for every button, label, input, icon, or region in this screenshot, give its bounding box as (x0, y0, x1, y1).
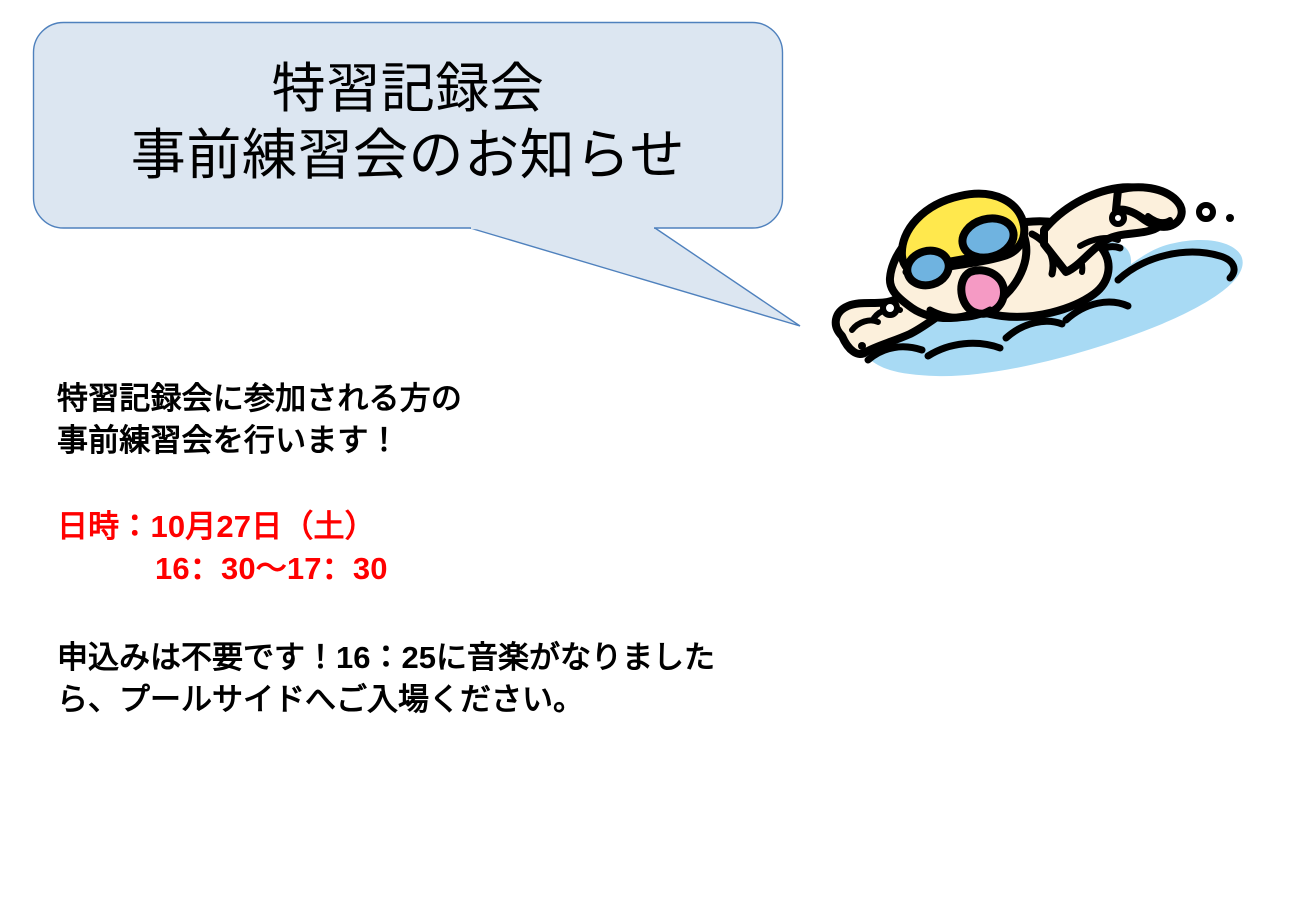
swimmer-head (890, 194, 1026, 318)
balloon-title-line-1: 特習記録会 (272, 57, 545, 122)
balloon-title-block: 特習記録会 事前練習会のお知らせ (33, 22, 783, 228)
poster-canvas: 特習記録会 事前練習会のお知らせ (0, 0, 1297, 919)
spacer-after-datetime (57, 591, 957, 637)
datetime-line: 日時：10月27日（土） (57, 506, 957, 548)
spacer-after-intro (57, 462, 957, 506)
balloon-title-line-2: 事前練習会のお知らせ (131, 122, 685, 189)
intro-line-1: 特習記録会に参加される方の (57, 378, 957, 420)
balloon-tail (470, 228, 800, 326)
intro-line-2: 事前練習会を行います！ (57, 420, 957, 462)
datetime-label: 日時： (57, 509, 150, 544)
datetime-value: 10月27日（土） (150, 509, 375, 544)
announcement-body: 特習記録会に参加される方の 事前練習会を行います！ 日時：10月27日（土） 1… (57, 378, 957, 721)
swimmer-clipart (818, 160, 1268, 385)
open-mouth (961, 270, 1004, 314)
time-range-line: 16：30〜17：30 (57, 548, 957, 590)
notice-line-2: ら、プールサイドへご入場ください。 (57, 679, 957, 721)
notice-line-1: 申込みは不要です！16：25に音楽がなりました (57, 637, 957, 679)
